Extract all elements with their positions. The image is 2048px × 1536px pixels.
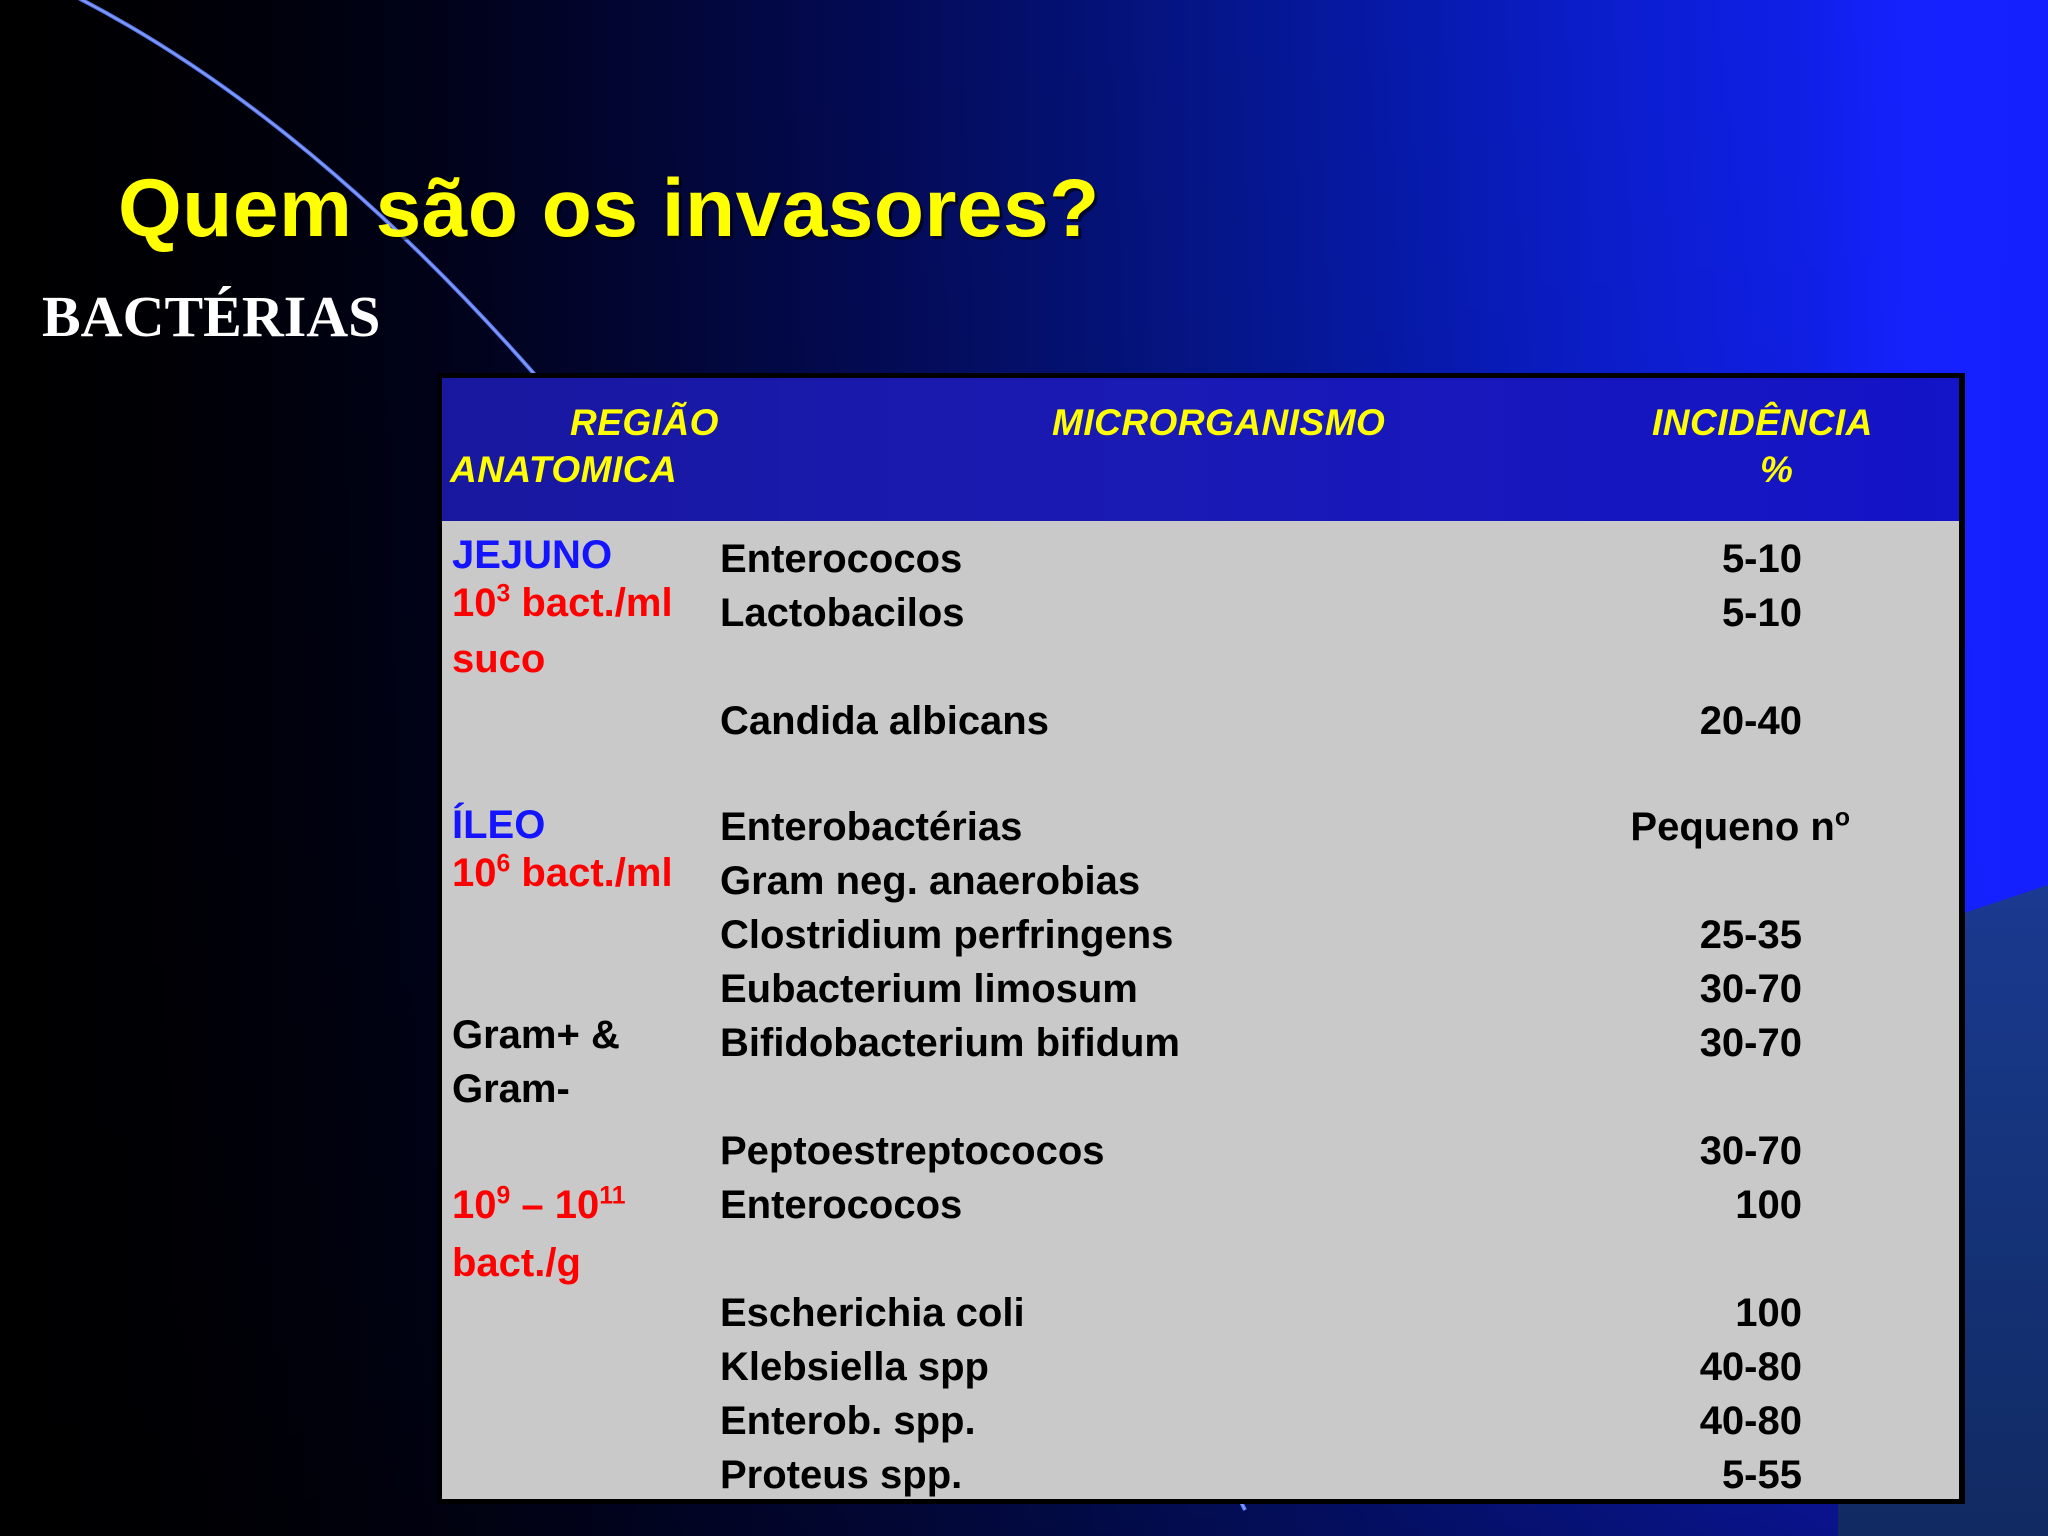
- table-cell-incidence: 30-70: [442, 1023, 1912, 1063]
- table-cell-incidence: 5-10: [442, 539, 1912, 579]
- header-incidence-line1: INCIDÊNCIA: [1652, 404, 1873, 441]
- table-cell-incidence: 100: [442, 1185, 1912, 1225]
- table-cell-incidence: 40-80: [442, 1347, 1912, 1387]
- table-cell-region-label: JEJUNO: [452, 535, 612, 575]
- table-cell-incidence: 25-35: [442, 915, 1912, 955]
- table-cell-microorganism: Gram neg. anaerobias: [720, 861, 1140, 901]
- table-cell-incidence: 40-80: [442, 1401, 1912, 1441]
- table-cell-incidence: 20-40: [442, 701, 1912, 741]
- table-cell-incidence: 5-55: [442, 1455, 1912, 1495]
- slide-title: Quem são os invasores?: [118, 168, 1100, 250]
- bacteria-table: REGIÃO ANATOMICA MICRORGANISMO INCIDÊNCI…: [437, 373, 1965, 1504]
- header-region-line2: ANATOMICA: [450, 451, 677, 488]
- table-cell-incidence: 30-70: [442, 969, 1912, 1009]
- table-cell-incidence: 100: [442, 1293, 1912, 1333]
- table-cell-region-label: 103 bact./ml: [452, 583, 673, 623]
- table-cell-region-label: bact./g: [452, 1243, 581, 1283]
- slide-subtitle: BACTÉRIAS: [42, 288, 380, 346]
- table-body: Enterococos5-10Lactobacilos5-10Candida a…: [442, 521, 1959, 1504]
- header-region-line1: REGIÃO: [570, 404, 719, 441]
- table-header-row: REGIÃO ANATOMICA MICRORGANISMO INCIDÊNCI…: [442, 378, 1959, 521]
- table-cell-incidence: Pequeno no: [442, 807, 1912, 847]
- header-microorganism: MICRORGANISMO: [1052, 404, 1385, 441]
- table-cell-region-label: 106 bact./ml: [452, 853, 673, 893]
- slide-canvas: Quem são os invasores? BACTÉRIAS REGIÃO …: [0, 0, 2048, 1536]
- header-incidence-line2: %: [1760, 451, 1793, 488]
- table-cell-region-label: suco: [452, 639, 545, 679]
- table-cell-region-label: Gram-: [452, 1069, 570, 1109]
- table-cell-region-label: Gram+ &: [452, 1015, 620, 1055]
- table-cell-incidence: 30-70: [442, 1131, 1912, 1171]
- table-cell-region-label: ÍLEO: [452, 805, 545, 845]
- table-cell-region-label: 109 – 1011: [452, 1185, 625, 1225]
